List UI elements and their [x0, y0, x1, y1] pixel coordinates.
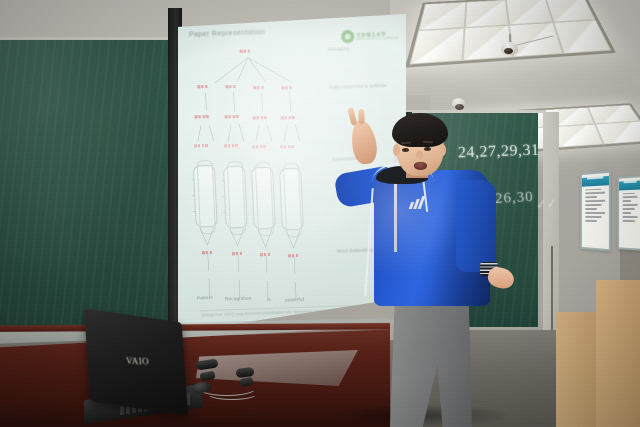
poster-text-block-2: [619, 189, 640, 228]
wooden-cabinet-lower: [556, 312, 596, 427]
input-word-3: is: [267, 297, 271, 302]
token-group-emb-1: [202, 251, 212, 255]
input-word-4: powerful: [285, 297, 304, 303]
lecture-hall-photo: 24,27,29,31 26,30 ✓✓ Paper Representatio…: [0, 0, 640, 427]
presenter: [338, 118, 528, 427]
input-word-1: Pattern: [197, 295, 213, 301]
token-group-emb-4: [288, 254, 298, 258]
presenter-middle-finger: [358, 109, 365, 124]
presenter-ear-left: [393, 144, 400, 156]
poster-text-block: [582, 185, 609, 228]
chalkboard-left-trim: [0, 37, 172, 40]
three-stripes-logo-icon: [410, 196, 430, 209]
presenter-trousers: [390, 296, 472, 427]
laptop: VAIO: [84, 308, 188, 415]
poster-classroom-notice-2: [617, 175, 640, 251]
wooden-cabinet: [596, 280, 640, 427]
presenter-nose: [416, 151, 423, 159]
token-group-emb-2: [232, 252, 242, 256]
presenter-resting-hand: [486, 265, 516, 291]
presenter-eye-right: [424, 147, 431, 151]
input-word-2: Recognition: [225, 296, 252, 302]
chalk-check-marks: ✓✓: [535, 195, 565, 220]
presenter-eye-left: [402, 148, 409, 152]
microphone-cable-2: [206, 386, 258, 400]
presenter-mouth: [414, 162, 427, 170]
chalkboard-right-trim: [406, 110, 546, 113]
presenter-right-arm: [456, 180, 496, 272]
token-group-emb-3: [260, 253, 270, 257]
presenter-ear-right: [439, 144, 446, 156]
poster-classroom-notice-1: [580, 171, 611, 252]
jacket-stripe-left: [364, 188, 374, 296]
chalkboard-left: [0, 40, 172, 330]
laptop-brand-logo: VAIO: [126, 356, 150, 367]
presenter-pointing-hand: [349, 119, 379, 166]
smoke-detector-icon: [452, 98, 465, 108]
